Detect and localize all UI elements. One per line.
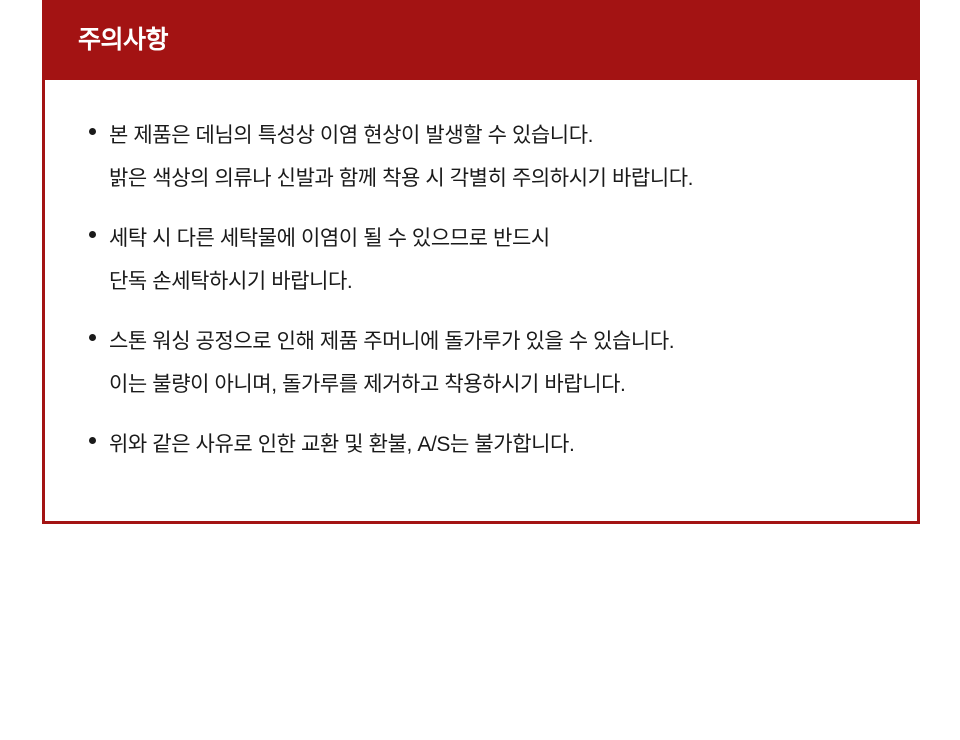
bullet-lines: 세탁 시 다른 세탁물에 이염이 될 수 있으므로 반드시 단독 손세탁하시기 … [109, 217, 917, 303]
notice-panel: 주의사항 본 제품은 데님의 특성상 이염 현상이 발생할 수 있습니다. 밝은… [42, 0, 920, 524]
list-item: 위와 같은 사유로 인한 교환 및 환불, A/S는 불가합니다. [45, 423, 917, 466]
bullet-lines: 위와 같은 사유로 인한 교환 및 환불, A/S는 불가합니다. [109, 423, 917, 466]
bullet-dot-icon [89, 128, 96, 135]
bullet-dot-icon [89, 437, 96, 444]
list-item: 본 제품은 데님의 특성상 이염 현상이 발생할 수 있습니다. 밝은 색상의 … [45, 114, 917, 200]
bullet-line: 스톤 워싱 공정으로 인해 제품 주머니에 돌가루가 있을 수 있습니다. [109, 320, 917, 363]
bullet-marker [89, 423, 109, 444]
bullet-dot-icon [89, 231, 96, 238]
bullet-line: 위와 같은 사유로 인한 교환 및 환불, A/S는 불가합니다. [109, 423, 917, 466]
bullet-marker [89, 114, 109, 135]
bullet-line: 밝은 색상의 의류나 신발과 함께 착용 시 각별히 주의하시기 바랍니다. [109, 157, 917, 200]
notice-body: 본 제품은 데님의 특성상 이염 현상이 발생할 수 있습니다. 밝은 색상의 … [42, 80, 920, 524]
notice-header: 주의사항 [42, 0, 920, 80]
bullet-line: 세탁 시 다른 세탁물에 이염이 될 수 있으므로 반드시 [109, 217, 917, 260]
bullet-lines: 스톤 워싱 공정으로 인해 제품 주머니에 돌가루가 있을 수 있습니다. 이는… [109, 320, 917, 406]
bullet-marker [89, 217, 109, 238]
bullet-line: 단독 손세탁하시기 바랍니다. [109, 260, 917, 303]
list-item: 스톤 워싱 공정으로 인해 제품 주머니에 돌가루가 있을 수 있습니다. 이는… [45, 320, 917, 406]
bullet-line: 이는 불량이 아니며, 돌가루를 제거하고 착용하시기 바랍니다. [109, 363, 917, 406]
bullet-dot-icon [89, 334, 96, 341]
bullet-marker [89, 320, 109, 341]
page-title: 주의사항 [78, 28, 168, 53]
bullet-lines: 본 제품은 데님의 특성상 이염 현상이 발생할 수 있습니다. 밝은 색상의 … [109, 114, 917, 200]
list-item: 세탁 시 다른 세탁물에 이염이 될 수 있으므로 반드시 단독 손세탁하시기 … [45, 217, 917, 303]
bullet-line: 본 제품은 데님의 특성상 이염 현상이 발생할 수 있습니다. [109, 114, 917, 157]
